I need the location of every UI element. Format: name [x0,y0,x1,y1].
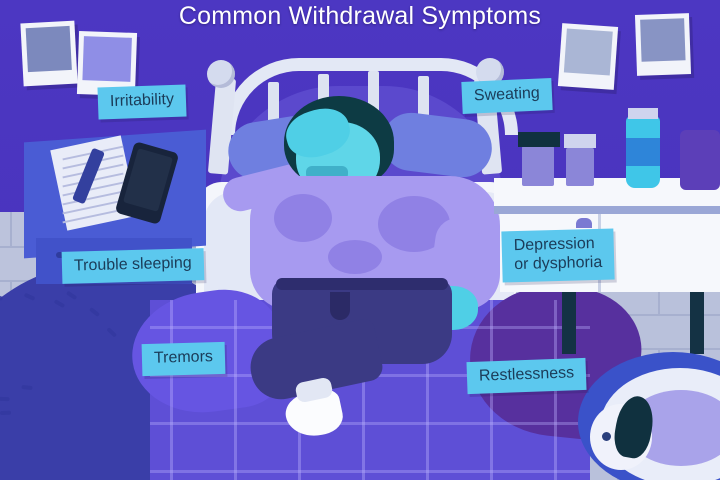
rug-texture-mark [89,307,100,317]
water-bottle-label [626,138,660,166]
symptom-label-tremors[interactable]: Tremors [142,342,226,376]
wall-photo-frame-3 [558,23,618,90]
plaid-horizontal-line [150,470,590,473]
rug-texture-mark [24,293,36,301]
illustration-poster: Common Withdrawal Symptoms IrritabilityS… [0,0,720,480]
symptom-label-restlessness[interactable]: Restlessness [466,358,586,394]
pants-drawstring [330,292,350,320]
drawer-knob [576,218,592,228]
symptom-label-depression[interactable]: Depression or dysphoria [501,229,614,283]
pill-bottle-cap [518,132,560,147]
rug-texture-mark [66,291,77,300]
pill-bottle-cap [564,134,596,148]
bed-post-knob-left [207,60,235,88]
pill-bottle [566,148,594,186]
photo-image [564,28,613,75]
rug-texture-mark [21,385,32,390]
sweat-stain [274,194,332,242]
sweat-stain [328,240,382,274]
pants-waistband [276,278,448,290]
symptom-label-irritability[interactable]: Irritability [97,84,186,119]
rug-texture-mark [53,299,65,308]
water-bottle-cap [628,108,658,119]
pill-bottle [522,146,554,186]
symptom-label-trouble-sleeping[interactable]: Trouble sleeping [62,248,204,284]
nightstand-leg [562,292,576,354]
rug-texture-mark [106,327,117,337]
nightstand-leg [690,292,704,354]
brick-mortar-line [10,212,12,246]
dark-box-object [680,130,720,190]
page-title: Common Withdrawal Symptoms [0,2,720,31]
dog-eye [602,432,611,441]
plaid-horizontal-line [150,422,590,425]
symptom-label-sweating[interactable]: Sweating [461,78,552,114]
photo-image [26,26,72,72]
photo-image [82,36,132,82]
rug-texture-mark [0,411,11,415]
nightstand-edge [494,206,720,214]
rug-texture-mark [0,397,9,401]
